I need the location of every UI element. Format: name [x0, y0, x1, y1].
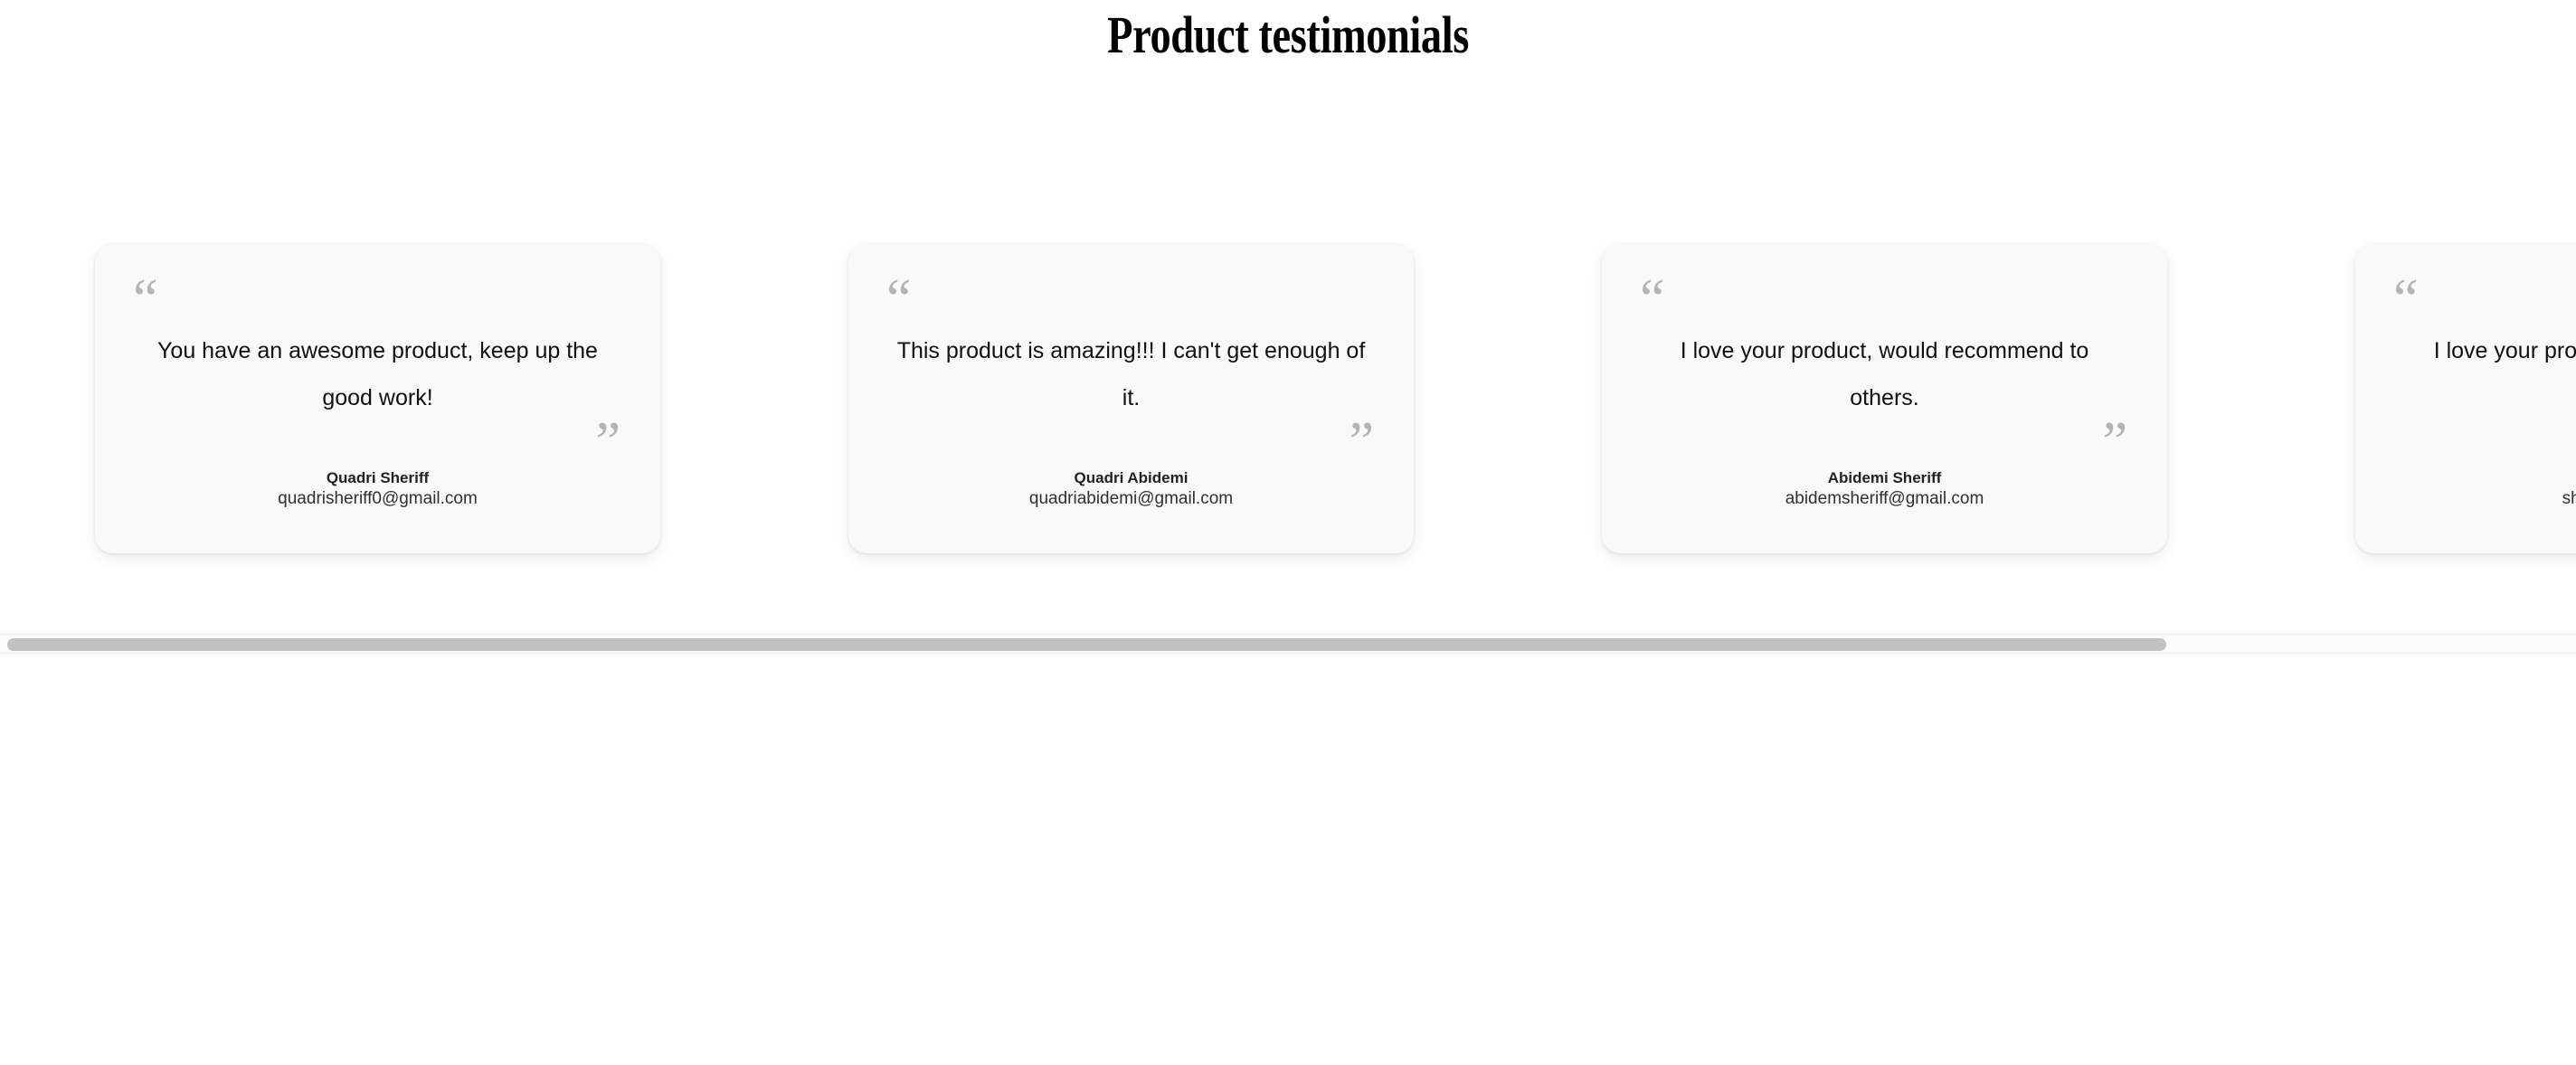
horizontal-scrollbar-thumb[interactable]: [7, 638, 2166, 651]
author-name: Quadri Abidemi: [886, 468, 1376, 488]
author-email: abidemsheriff@gmail.com: [1640, 488, 2129, 510]
quote-close-icon: ”: [1640, 427, 2129, 457]
testimonial-author: Abidemi Sheriff abidemsheriff@gmail.com: [1640, 468, 2129, 510]
testimonial-card[interactable]: “ This product is amazing!!! I can't get…: [848, 244, 1414, 553]
testimonials-carousel[interactable]: “ You have an awesome product, keep up t…: [0, 233, 2576, 649]
author-email: quadrisheriff0@gmail.com: [133, 488, 622, 510]
testimonial-quote: You have an awesome product, keep up the…: [133, 327, 622, 421]
testimonial-author: Quadri Abidemi quadriabidemi@gmail.com: [886, 468, 1376, 510]
author-email: quadriabidemi@gmail.com: [886, 488, 1376, 510]
author-email: sheriffq@gmail.com: [2393, 488, 2576, 510]
quote-close-icon: ”: [133, 427, 622, 457]
testimonials-page: Product testimonials “ You have an aweso…: [0, 0, 2576, 1065]
testimonial-card[interactable]: “ You have an awesome product, keep up t…: [95, 244, 660, 553]
author-name: Sheriff Quadri: [2393, 468, 2576, 488]
author-name: Quadri Sheriff: [133, 468, 622, 488]
quote-close-icon: ”: [886, 427, 1376, 457]
testimonial-quote: I love your product, would recommend to …: [1640, 327, 2129, 421]
testimonial-author: Sheriff Quadri sheriffq@gmail.com: [2393, 468, 2576, 510]
author-name: Abidemi Sheriff: [1640, 468, 2129, 488]
quote-open-icon: “: [2393, 284, 2576, 315]
testimonial-card[interactable]: “ I love your product, would recommend t…: [1602, 244, 2167, 553]
testimonials-track: “ You have an awesome product, keep up t…: [0, 233, 2576, 553]
horizontal-scrollbar-track[interactable]: [0, 634, 2576, 654]
testimonial-author: Quadri Sheriff quadrisheriff0@gmail.com: [133, 468, 622, 510]
testimonial-card[interactable]: “ I love your product, would recommend t…: [2355, 244, 2576, 553]
quote-open-icon: “: [133, 284, 622, 315]
quote-open-icon: “: [1640, 284, 2129, 315]
quote-open-icon: “: [886, 284, 1376, 315]
testimonial-quote: I love your product, would recommend to …: [2393, 327, 2576, 421]
quote-close-icon: ”: [2393, 427, 2576, 457]
page-title: Product testimonials: [258, 0, 2318, 61]
testimonial-quote: This product is amazing!!! I can't get e…: [886, 327, 1376, 421]
